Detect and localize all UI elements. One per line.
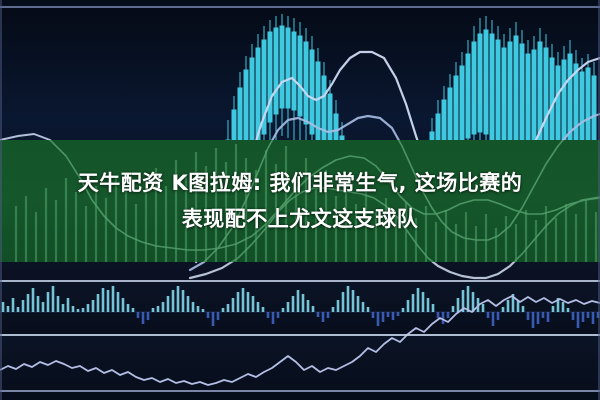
- indicator-panel-top-rule: [0, 280, 600, 282]
- bottom-border-rule: [0, 390, 600, 392]
- top-border-rule: [0, 6, 600, 8]
- green-band-chart-overlay: [0, 140, 600, 262]
- left-edge-rule: [0, 0, 2, 400]
- screenshot-stage: 天牛配资 K图拉姆: 我们非常生气, 这场比赛的 表现配不上尤文这支球队: [0, 0, 600, 400]
- green-banner-band: [0, 140, 600, 262]
- indicator-panel-mid-rule: [0, 334, 600, 336]
